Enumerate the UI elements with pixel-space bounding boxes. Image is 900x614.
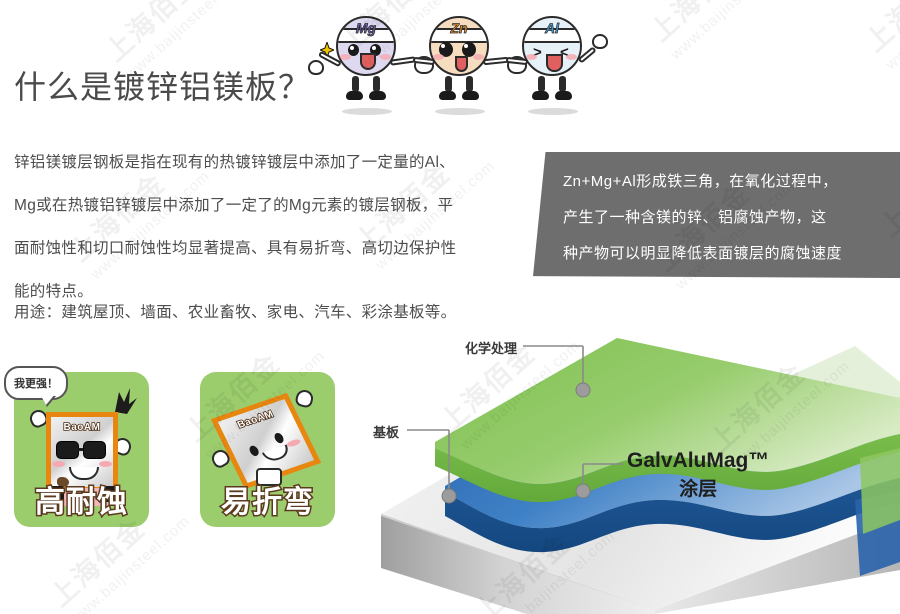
usage-line: 用途：建筑屋顶、墙面、农业畜牧、家电、汽车、彩涂基板等。 — [14, 298, 456, 328]
mascot-foot-left — [439, 91, 456, 100]
mascot-hand-right — [592, 34, 608, 49]
coating-name: GalvAluMag™ — [627, 449, 769, 472]
mascot-leg-left — [352, 76, 359, 92]
body-paragraph-1: 锌铝镁镀层钢板是指在现有的热镀锌镀层中添加了一定量的Al、 — [14, 145, 530, 180]
feature-card-bending[interactable]: BaoAM 易折弯 — [200, 372, 335, 527]
diagram-label-chemical-treatment: 化学处理 — [465, 338, 517, 357]
watermark-cn: 上海佰金 — [640, 0, 781, 49]
mascot-shadow — [342, 108, 392, 115]
card-caption: 易折弯 — [200, 477, 335, 521]
speech-bubble: 我更强！ — [4, 366, 68, 400]
page-title: 什么是镀锌铝镁板？ — [14, 62, 311, 108]
watermark-cn: 上海佰金 — [95, 0, 236, 69]
mascot-cheek-left — [526, 54, 537, 60]
mascot-mouth — [546, 54, 563, 72]
mascot-al: Al > < — [522, 12, 584, 112]
mascot-cheek-left — [340, 54, 351, 60]
watermark: 上海佰金 www.baijinsteel.com — [640, 0, 793, 63]
mascot-leg-right — [466, 76, 473, 92]
plate-label: BaoAM — [64, 422, 101, 433]
mascot-foot-right — [369, 91, 386, 100]
body-paragraph-3: 面耐蚀性和切口耐蚀性均显著提高、具有易折弯、高切边保护性 — [14, 231, 530, 266]
sunglasses-icon — [56, 441, 110, 459]
mascot-leg-left — [445, 76, 452, 92]
plate-cheek-right — [99, 461, 112, 467]
mascot-cheek-right — [380, 54, 391, 60]
callout-line-3: 种产物可以明显降低表面镀层的腐蚀速度 — [563, 236, 883, 272]
coating-suffix: 涂层 — [627, 474, 769, 501]
mascot-cheek-right — [473, 54, 484, 60]
plate-label: BaoAM — [236, 409, 276, 431]
watermark-en: www.baijinsteel.com — [882, 0, 900, 73]
plate-cheek-left — [52, 461, 65, 467]
mascot-label: Zn — [429, 20, 489, 36]
plate-cheek-right — [286, 438, 302, 448]
diagram-label-substrate: 基板 — [373, 422, 399, 441]
callout-box: Zn+Mg+Al形成铁三角，在氧化过程中， 产生了一种含镁的锌、铝腐蚀产物，这 … — [533, 152, 900, 278]
plate-smile — [262, 444, 292, 463]
page-root: 什么是镀锌铝镁板？ 锌铝镁镀层钢板是指在现有的热镀锌镀层中添加了一定量的Al、 … — [0, 0, 900, 614]
mascot-leg-left — [538, 76, 545, 92]
mascot-shadow — [435, 108, 485, 115]
hand-icon-top — [294, 388, 315, 409]
callout-line-1: Zn+Mg+Al形成铁三角，在氧化过程中， — [563, 164, 883, 200]
mascot-mg: Mg — [336, 12, 398, 112]
callout-text: Zn+Mg+Al形成铁三角，在氧化过程中， 产生了一种含镁的锌、铝腐蚀产物，这 … — [563, 164, 883, 272]
card-caption: 高耐蚀 — [14, 477, 149, 521]
mascot-label: Al — [522, 20, 582, 36]
diagram-label-coating: GalvAluMag™ 涂层 — [627, 449, 769, 501]
plate-eye-right — [273, 432, 285, 445]
mascot-cheek-left — [433, 54, 444, 60]
body-copy: 锌铝镁镀层钢板是指在现有的热镀锌镀层中添加了一定量的Al、 Mg或在热镀铝锌镀层… — [14, 145, 530, 317]
watermark-en: www.baijinsteel.com — [67, 512, 193, 614]
mascot-foot-left — [346, 91, 363, 100]
layer-diagram: 化学处理 基板 GalvAluMag™ 涂层 — [355, 330, 900, 614]
mascot-foot-left — [532, 91, 549, 100]
mascot-mouth — [455, 56, 468, 72]
plate-eye-left — [248, 445, 260, 458]
mascot-hand-left — [308, 60, 324, 75]
mascot-foot-right — [462, 91, 479, 100]
mascot-leg-right — [373, 76, 380, 92]
speech-bubble-text: 我更强！ — [14, 375, 58, 391]
mascot-zn: Zn — [429, 12, 491, 112]
mascot-leg-right — [559, 76, 566, 92]
mascot-shadow — [528, 108, 578, 115]
mascot-mouth — [360, 53, 376, 70]
watermark: 上海佰金 www.baijinsteel.com — [855, 0, 900, 73]
body-paragraph-2: Mg或在热镀铝锌镀层中添加了一定了的Mg元素的镀层钢板，平 — [14, 188, 530, 223]
callout-line-2: 产生了一种含镁的锌、铝腐蚀产物，这 — [563, 200, 883, 236]
mascot-foot-right — [555, 91, 572, 100]
mascot-cheek-right — [566, 54, 577, 60]
watermark-en: www.baijinsteel.com — [667, 0, 793, 63]
watermark-cn: 上海佰金 — [855, 0, 900, 59]
mascot-group: Mg Zn — [318, 12, 588, 120]
mascot-label: Mg — [336, 20, 396, 36]
